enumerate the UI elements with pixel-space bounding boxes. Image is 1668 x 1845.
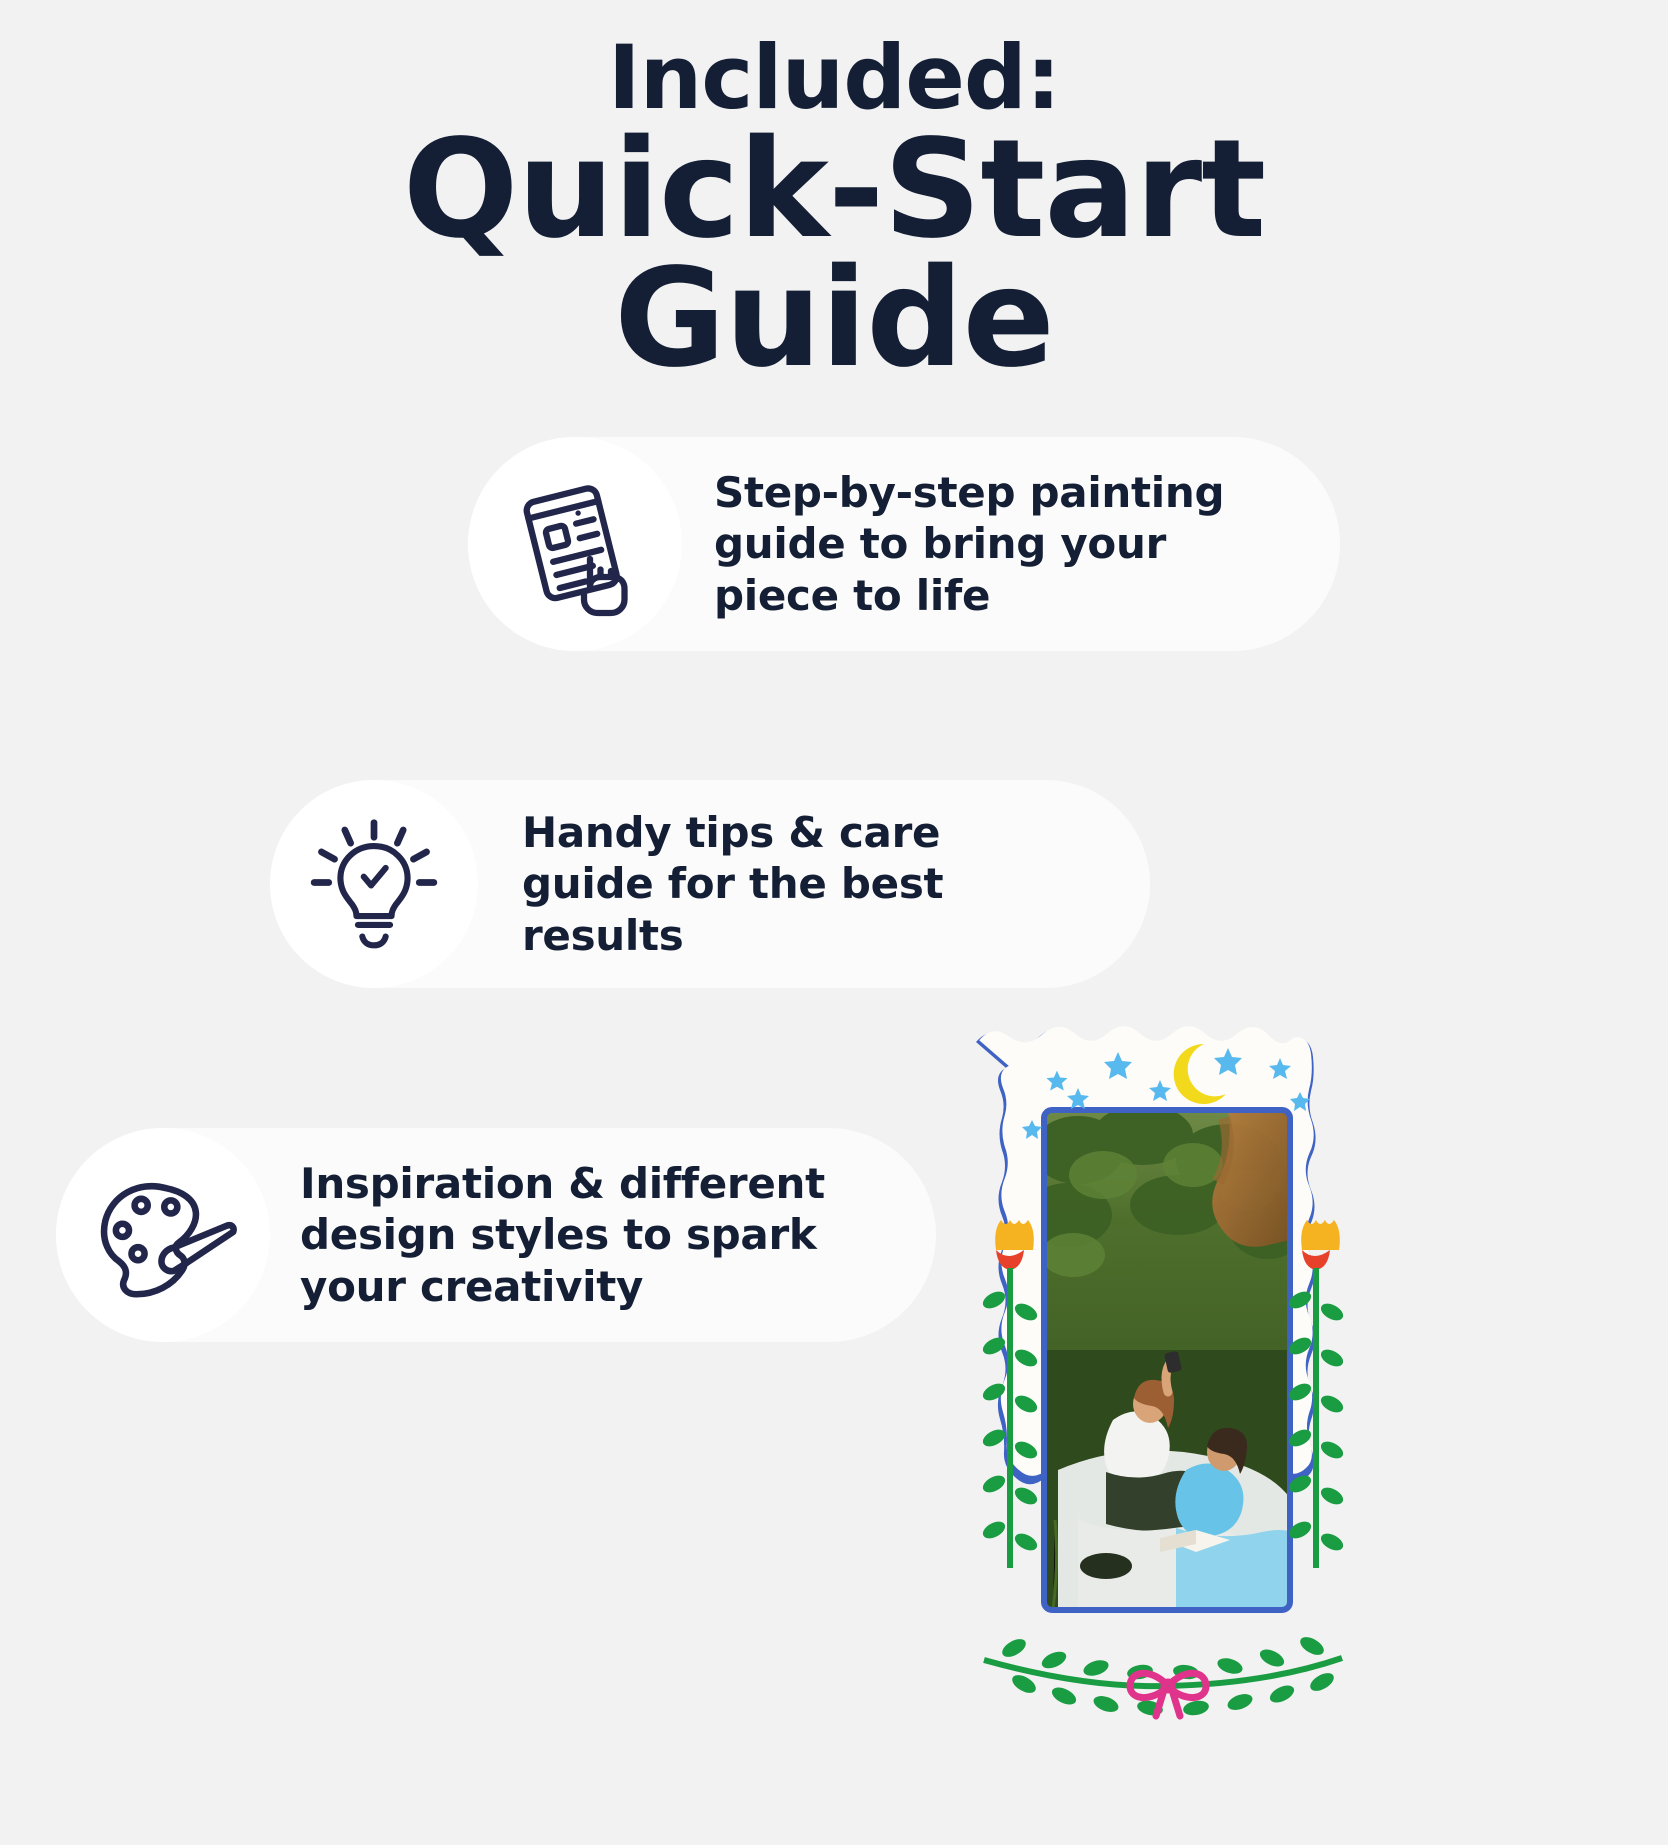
feature-card-text: Step-by-step painting guide to bring you… (714, 467, 1224, 621)
lightbulb-idea-icon (301, 811, 447, 957)
quick-start-guide-page: Included: Quick-Start Guide (0, 0, 1668, 1845)
page-title: Included: Quick-Start Guide (0, 34, 1668, 386)
paint-palette-icon (85, 1157, 241, 1313)
feature-card-text: Inspiration & different design styles to… (300, 1158, 825, 1312)
document-hand-icon (500, 469, 650, 619)
feature-card-inspiration: Inspiration & different design styles to… (56, 1128, 936, 1342)
feature-icon-bubble (468, 437, 682, 651)
inner-photo (1024, 1105, 1308, 1612)
title-line-included: Included: (0, 34, 1668, 121)
title-line-quick-start: Quick-Start (0, 123, 1668, 258)
ceramic-frame-illustration (928, 1000, 1398, 1845)
product-photo-frame (928, 1000, 1398, 1845)
feature-icon-bubble (56, 1128, 270, 1342)
feature-card-tips-care: Handy tips & care guide for the best res… (270, 780, 1150, 988)
title-line-guide: Guide (0, 252, 1668, 387)
feature-icon-bubble (270, 780, 478, 988)
feature-card-step-by-step: Step-by-step painting guide to bring you… (468, 437, 1340, 651)
feature-card-text: Handy tips & care guide for the best res… (522, 807, 943, 961)
